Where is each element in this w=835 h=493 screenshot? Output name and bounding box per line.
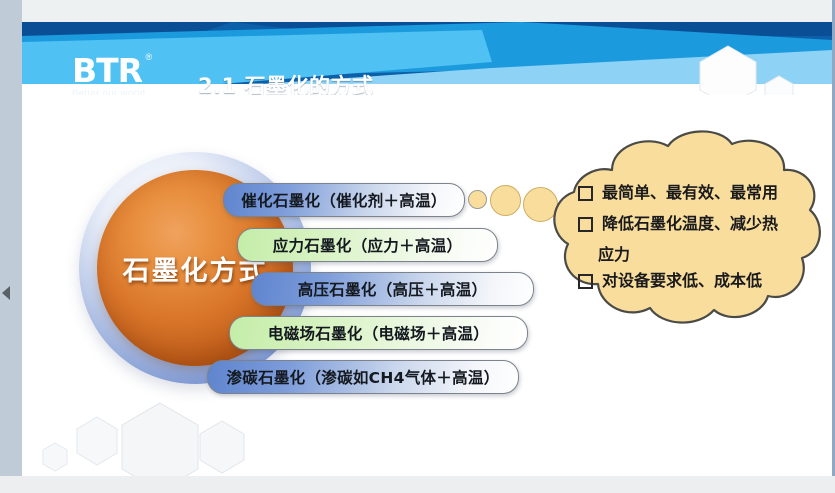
method-pill-5[interactable]: 渗碳石墨化（渗碳如CH4气体＋高温） — [207, 360, 519, 394]
method-pill-1[interactable]: 催化石墨化（催化剂＋高温） — [223, 183, 465, 217]
window-bottom-strip — [0, 476, 835, 493]
bullet-square-icon — [578, 274, 593, 289]
callout-bullet-item: 降低石墨化温度、减少热 — [578, 211, 810, 237]
callout-bullet-item: 对设备要求低、成本低 — [578, 268, 810, 294]
slide-header-banner: BTR ® Better our world 2.1 石墨化的方式 — [22, 22, 832, 95]
window-left-strip — [0, 0, 22, 476]
thought-bubble-small — [468, 190, 487, 209]
method-pill-4[interactable]: 电磁场石墨化（电磁场＋高温） — [229, 316, 528, 350]
method-pill-3-label: 高压石墨化（高压＋高温） — [298, 278, 488, 300]
callout-bullet-list: 最简单、最有效、最常用 降低石墨化温度、减少热 应力 对设备要求低、成本低 — [578, 180, 810, 300]
callout-bullet-2-text: 降低石墨化温度、减少热 — [602, 211, 778, 237]
callout-bullet-1-text: 最简单、最有效、最常用 — [602, 180, 778, 206]
method-pill-2[interactable]: 应力石墨化（应力＋高温） — [237, 228, 498, 262]
callout-bullet-2-continuation: 应力 — [598, 242, 810, 268]
method-pill-4-label: 电磁场石墨化（电磁场＋高温） — [268, 322, 489, 344]
bullet-square-icon — [578, 186, 593, 201]
method-pill-3[interactable]: 高压石墨化（高压＋高温） — [251, 272, 534, 306]
method-pill-1-label: 催化石墨化（催化剂＋高温） — [241, 189, 446, 211]
callout-bullet-item: 最简单、最有效、最常用 — [578, 180, 810, 206]
slide-title: 2.1 石墨化的方式 — [198, 70, 374, 95]
slide-body: 石墨化方式 催化石墨化（催化剂＋高温） 应力石墨化（应力＋高温） 高压石墨化（高… — [22, 95, 832, 476]
slide-canvas: BTR ® Better our world 2.1 石墨化的方式 石墨化方式 … — [0, 0, 835, 493]
window-top-strip — [22, 0, 835, 22]
thought-bubble-medium — [490, 185, 521, 216]
bullet-square-icon — [578, 217, 593, 232]
method-pill-5-label: 渗碳石墨化（渗碳如CH4气体＋高温） — [226, 366, 499, 388]
banner-background-shapes — [22, 22, 832, 95]
previous-slide-marker[interactable] — [2, 286, 10, 300]
callout-cloud[interactable]: 最简单、最有效、最常用 降低石墨化温度、减少热 应力 对设备要求低、成本低 — [534, 130, 828, 335]
callout-bullet-3-text: 对设备要求低、成本低 — [602, 268, 762, 294]
method-pill-2-label: 应力石墨化（应力＋高温） — [273, 234, 463, 256]
